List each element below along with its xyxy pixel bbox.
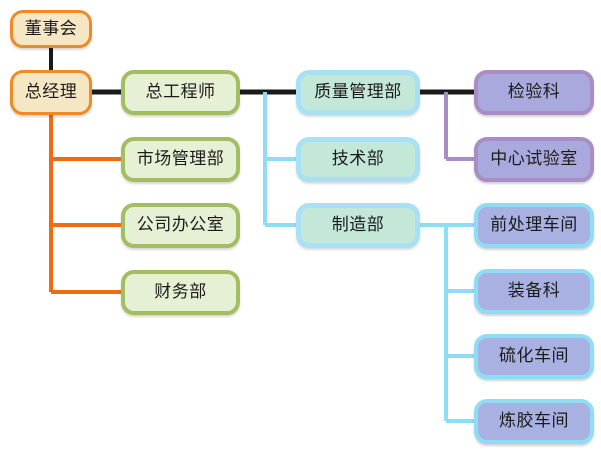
- node-general-manager-label: 总经理: [25, 84, 78, 101]
- node-chief-engineer[interactable]: 总工程师: [121, 70, 240, 115]
- node-finance-dept-label: 财务部: [154, 284, 207, 301]
- org-chart: 董事会 总经理 总工程师 市场管理部 公司办公室 财务部 质量管理部 技术部 制…: [0, 0, 601, 456]
- node-inspection-section[interactable]: 检验科: [474, 70, 594, 115]
- node-central-lab-label: 中心试验室: [490, 151, 578, 168]
- node-board[interactable]: 董事会: [10, 10, 92, 48]
- node-mixing-shop[interactable]: 炼胶车间: [474, 399, 594, 444]
- node-company-office[interactable]: 公司办公室: [121, 203, 240, 248]
- node-tech-dept[interactable]: 技术部: [296, 137, 420, 182]
- node-manufacturing-dept[interactable]: 制造部: [296, 203, 420, 248]
- node-mixing-shop-label: 炼胶车间: [499, 413, 569, 430]
- node-chief-engineer-label: 总工程师: [146, 84, 216, 101]
- node-finance-dept[interactable]: 财务部: [121, 270, 240, 315]
- node-board-label: 董事会: [25, 21, 78, 38]
- node-market-dept[interactable]: 市场管理部: [121, 137, 240, 182]
- node-central-lab[interactable]: 中心试验室: [474, 137, 594, 182]
- node-pretreatment-shop-label: 前处理车间: [490, 217, 578, 234]
- node-equipment-section-label: 装备科: [508, 283, 561, 300]
- node-inspection-section-label: 检验科: [508, 84, 561, 101]
- node-equipment-section[interactable]: 装备科: [474, 269, 594, 314]
- node-vulcanizing-shop[interactable]: 硫化车间: [474, 334, 594, 379]
- node-company-office-label: 公司办公室: [137, 217, 225, 234]
- node-market-dept-label: 市场管理部: [137, 151, 225, 168]
- node-general-manager[interactable]: 总经理: [10, 70, 92, 115]
- node-quality-dept-label: 质量管理部: [314, 84, 402, 101]
- node-vulcanizing-shop-label: 硫化车间: [499, 348, 569, 365]
- node-quality-dept[interactable]: 质量管理部: [296, 70, 420, 115]
- node-manufacturing-dept-label: 制造部: [332, 217, 385, 234]
- node-tech-dept-label: 技术部: [332, 151, 385, 168]
- node-pretreatment-shop[interactable]: 前处理车间: [474, 203, 594, 248]
